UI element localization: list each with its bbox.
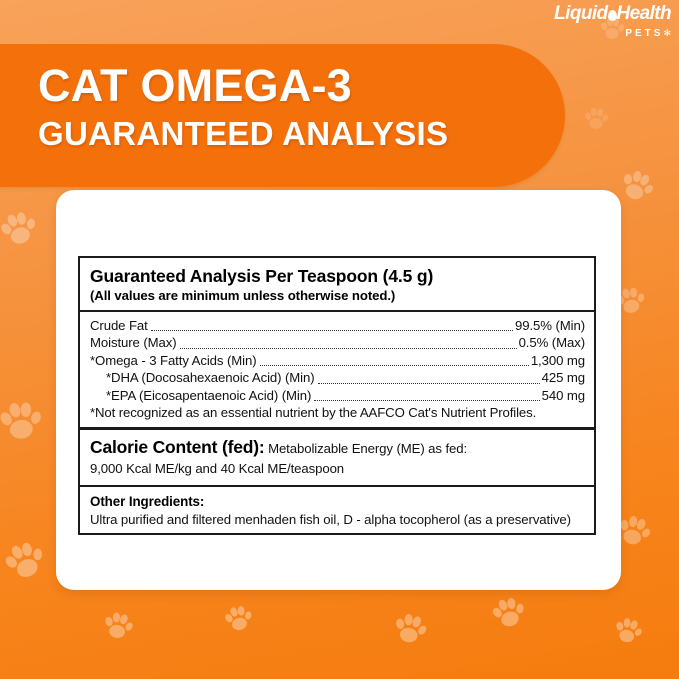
other-ingredients-section: Other Ingredients: Ultra purified and fi… [80, 487, 594, 536]
paw-print-icon [483, 587, 532, 636]
nutrient-row: *DHA (Docosahexaenoic Acid) (Min)425 mg [90, 369, 585, 387]
header-banner: CAT OMEGA-3 GUARANTEED ANALYSIS [0, 44, 565, 187]
nutrient-value: 1,300 mg [531, 352, 585, 370]
paw-icon: ✻ [663, 28, 671, 39]
water-drop-icon [608, 10, 617, 21]
paw-print-icon [0, 200, 46, 255]
leader-dots [260, 365, 529, 366]
leader-dots [314, 400, 539, 401]
guaranteed-analysis-title: Guaranteed Analysis Per Teaspoon (4.5 g) [90, 265, 585, 287]
paw-print-icon [98, 605, 139, 646]
nutrient-value: 99.5% (Min) [515, 317, 585, 335]
content-card: Guaranteed Analysis Per Teaspoon (4.5 g)… [56, 190, 621, 590]
page-title: CAT OMEGA-3 [38, 60, 565, 112]
leader-dots [180, 348, 517, 349]
calorie-content-line-2: 9,000 Kcal ME/kg and 40 Kcal ME/teaspoon [90, 460, 585, 478]
paw-print-icon [217, 597, 258, 638]
brand-logo-subline: PETS✻ [553, 23, 671, 41]
nutrient-rows: Crude Fat99.5% (Min)Moisture (Max)0.5% (… [80, 312, 594, 428]
brand-logo-sub-label: PETS [625, 28, 663, 39]
nutrition-facts-panel: Guaranteed Analysis Per Teaspoon (4.5 g)… [78, 256, 596, 535]
brand-logo-wordmark: LiquidHealth [553, 4, 671, 23]
paw-print-icon [0, 391, 49, 450]
nutrient-label: Crude Fat [90, 317, 148, 335]
nutrient-label: *DHA (Docosahexaenoic Acid) (Min) [90, 369, 315, 387]
nutrient-footnote: *Not recognized as an essential nutrient… [90, 404, 585, 422]
calorie-content-subtext: Metabolizable Energy (ME) as fed: [268, 441, 467, 456]
nutrient-row: *Omega - 3 Fatty Acids (Min)1,300 mg [90, 352, 585, 370]
nutrient-row: Crude Fat99.5% (Min) [90, 317, 585, 335]
nutrient-value: 540 mg [542, 387, 585, 405]
calorie-content-line-1: Calorie Content (fed): Metabolizable Ene… [90, 436, 585, 460]
leader-dots [151, 330, 513, 331]
guaranteed-analysis-note: (All values are minimum unless otherwise… [90, 287, 585, 305]
nutrient-label: *Omega - 3 Fatty Acids (Min) [90, 352, 257, 370]
nutrient-row: Moisture (Max)0.5% (Max) [90, 334, 585, 352]
nutrient-value: 425 mg [542, 369, 585, 387]
nutrient-value: 0.5% (Max) [519, 334, 585, 352]
other-ingredients-body: Ultra purified and filtered menhaden fis… [90, 511, 585, 529]
poster-canvas: LiquidHealth PETS✻ CAT OMEGA-3 GUARANTEE… [0, 0, 679, 679]
other-ingredients-heading: Other Ingredients: [90, 493, 585, 511]
paw-print-icon [608, 610, 648, 650]
paw-print-icon [0, 529, 55, 591]
calorie-content-section: Calorie Content (fed): Metabolizable Ene… [80, 430, 594, 485]
page-subtitle: GUARANTEED ANALYSIS [38, 114, 565, 154]
header-banner-content: CAT OMEGA-3 GUARANTEED ANALYSIS [0, 44, 565, 187]
guaranteed-analysis-header: Guaranteed Analysis Per Teaspoon (4.5 g)… [80, 258, 594, 310]
nutrient-label: *EPA (Eicosapentaenoic Acid) (Min) [90, 387, 311, 405]
paw-print-icon [581, 103, 611, 133]
brand-logo-word-health: Health [617, 3, 671, 24]
brand-logo-word-liquid: Liquid [554, 3, 607, 24]
nutrient-label: Moisture (Max) [90, 334, 177, 352]
leader-dots [318, 383, 540, 384]
paw-print-icon [387, 605, 433, 651]
nutrient-row: *EPA (Eicosapentaenoic Acid) (Min)540 mg [90, 387, 585, 405]
brand-logo: LiquidHealth PETS✻ [553, 4, 671, 41]
calorie-content-heading: Calorie Content (fed): [90, 437, 264, 457]
